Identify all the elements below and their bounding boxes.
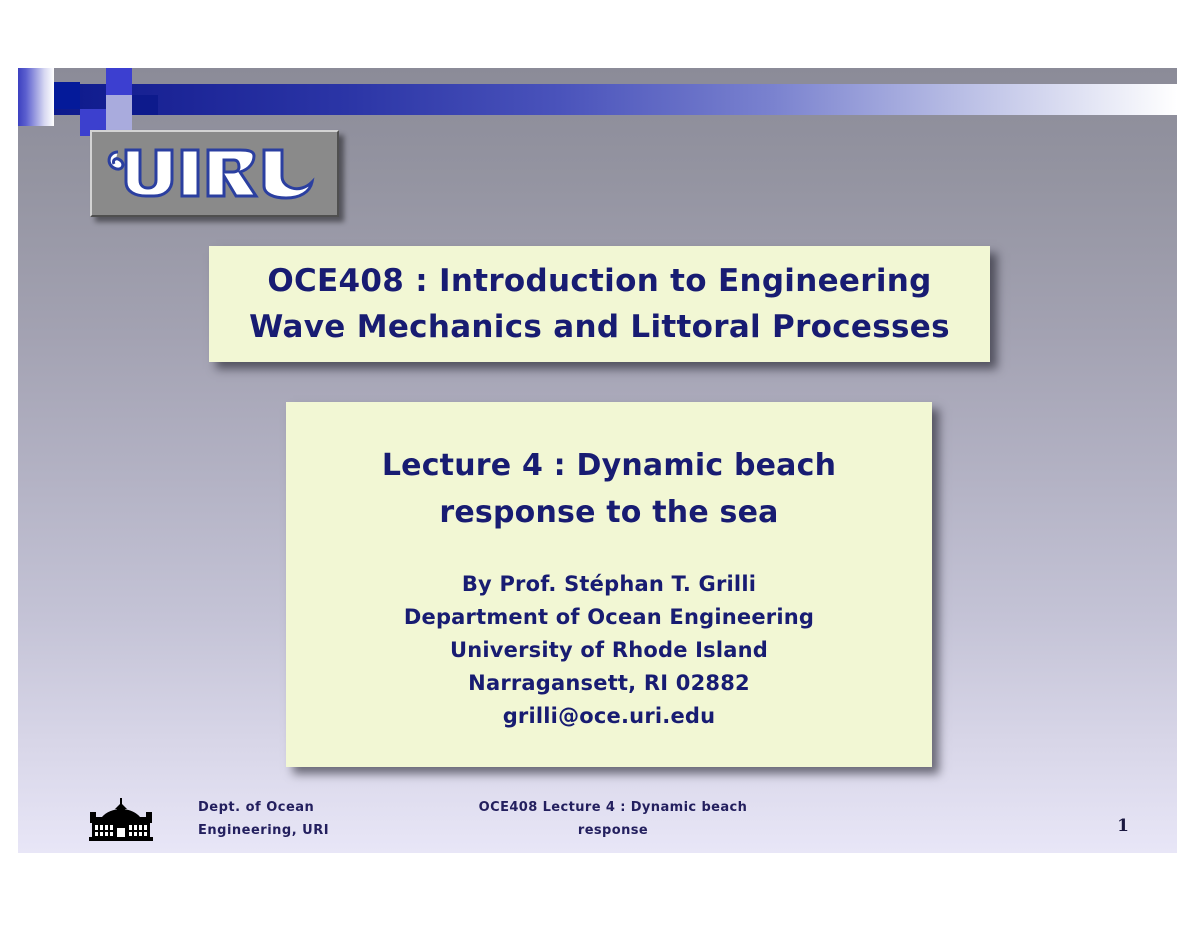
page-title-line-2: Wave Mechanics and Littoral Processes	[249, 304, 950, 350]
footer-center-text: OCE408 Lecture 4 : Dynamic beach respons…	[418, 796, 808, 842]
slide-title-card: OCE408 : Introduction to Engineering Wav…	[209, 246, 990, 362]
page-number: 1	[1117, 816, 1129, 836]
slide-root: OCE408 : Introduction to Engineering Wav…	[0, 0, 1200, 927]
footer-left-line-2: Engineering, URI	[198, 819, 428, 842]
slide-footer: Dept. of Ocean Engineering, URI OCE408 L…	[18, 778, 1177, 853]
author-university: University of Rhode Island	[286, 634, 932, 667]
lecture-heading-line-2: response to the sea	[286, 489, 932, 536]
author-block: By Prof. Stéphan T. Grilli Department of…	[286, 568, 932, 733]
lecture-info-card: Lecture 4 : Dynamic beach response to th…	[286, 402, 932, 767]
author-email: grilli@oce.uri.edu	[286, 700, 932, 733]
author-department: Department of Ocean Engineering	[286, 601, 932, 634]
presentation-slide: OCE408 : Introduction to Engineering Wav…	[18, 68, 1177, 853]
horizontal-gradient-bar	[54, 84, 1177, 115]
footer-left-line-1: Dept. of Ocean	[198, 796, 428, 819]
decorative-square-4	[106, 95, 132, 122]
uri-logo-glyph	[102, 142, 327, 206]
building-icon-glyph	[88, 798, 154, 842]
footer-center-line-2: response	[418, 819, 808, 842]
footer-left-text: Dept. of Ocean Engineering, URI	[198, 796, 428, 842]
footer-center-line-1: OCE408 Lecture 4 : Dynamic beach	[418, 796, 808, 819]
page-title-line-1: OCE408 : Introduction to Engineering	[267, 258, 931, 304]
decorative-square-6	[132, 95, 158, 115]
author-address: Narragansett, RI 02882	[286, 667, 932, 700]
building-icon	[88, 798, 154, 842]
decorative-square-3	[106, 68, 132, 95]
lecture-heading-line-1: Lecture 4 : Dynamic beach	[286, 442, 932, 489]
uri-logo	[90, 130, 339, 217]
author-name: By Prof. Stéphan T. Grilli	[286, 568, 932, 601]
decorative-square-1	[54, 82, 80, 109]
gradient-fade-block	[18, 68, 54, 126]
